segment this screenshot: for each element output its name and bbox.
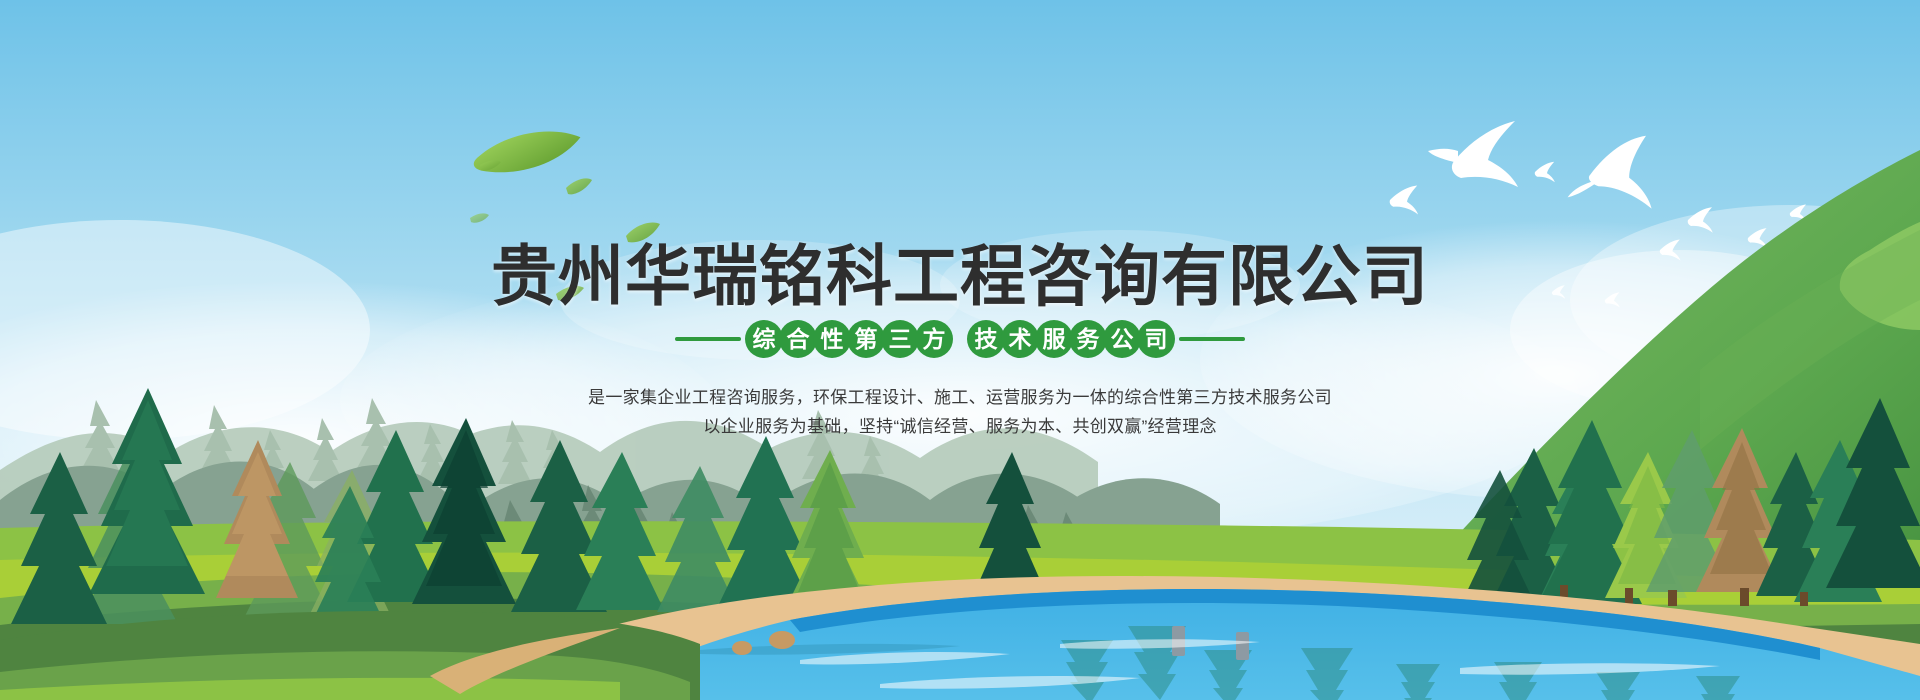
foreground-grass-layer xyxy=(0,0,1920,700)
hero-banner: 贵州华瑞铭科工程咨询有限公司 综 合 性 第 三 方 技 术 服 务 公 司 xyxy=(0,0,1920,700)
